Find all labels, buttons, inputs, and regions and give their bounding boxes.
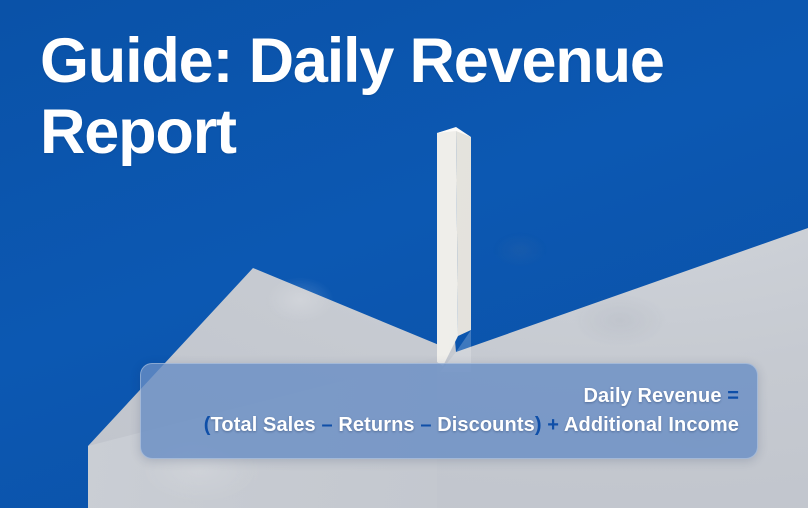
formula-term-additional-income: Additional Income: [564, 414, 739, 436]
formula-operator-minus-2: –: [420, 414, 431, 436]
formula-operator-minus-1: –: [321, 414, 332, 436]
formula-line-2: (Total Sales – Returns – Discounts) + Ad…: [204, 411, 739, 440]
formula-close-paren: ): [535, 414, 542, 436]
formula-term-discounts: Discounts: [437, 414, 535, 436]
page-title: Guide: Daily Revenue Report: [40, 26, 700, 167]
formula-line-1: Daily Revenue =: [584, 382, 739, 411]
formula-term-returns: Returns: [338, 414, 414, 436]
formula-operator-equals: =: [727, 385, 739, 407]
formula-open-paren: (: [204, 414, 211, 436]
formula-term-daily-revenue: Daily Revenue: [584, 385, 722, 407]
formula-card: Daily Revenue = (Total Sales – Returns –…: [140, 363, 758, 459]
formula-operator-plus: +: [547, 414, 559, 436]
formula-term-total-sales: Total Sales: [211, 414, 316, 436]
poster-canvas: Guide: Daily Revenue Report Daily Revenu…: [0, 0, 808, 508]
